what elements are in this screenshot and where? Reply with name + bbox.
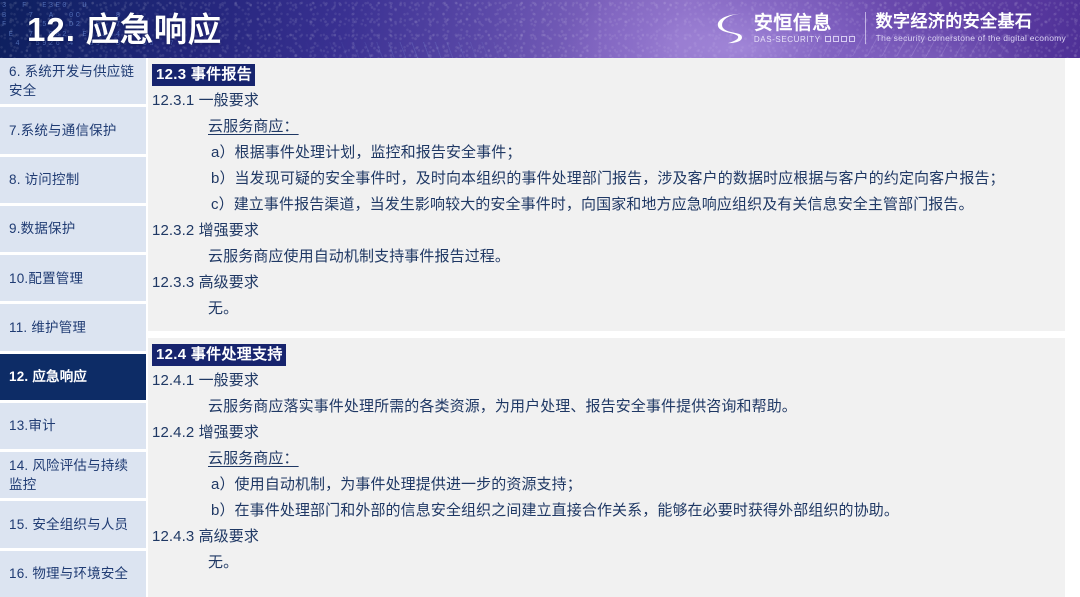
sidebar-item-16[interactable]: 16. 物理与环境安全 <box>0 551 146 597</box>
sidebar-item-12[interactable]: 12. 应急响应 <box>0 354 146 400</box>
sidebar-item-9[interactable]: 9.数据保护 <box>0 206 146 252</box>
content-line: 无。 <box>148 550 1065 576</box>
section-heading-12-4: 12.4 事件处理支持 <box>152 344 286 366</box>
content-line: a）使用自动机制，为事件处理提供进一步的资源支持； <box>148 472 1065 498</box>
slide-header: 3 F E3E0 U B 7 A 0C 1 8 F 5 D2 9 7F E 7 … <box>0 0 1080 58</box>
sidebar-item-label: 12. 应急响应 <box>9 367 87 386</box>
section-12-3-body: 12.3.1 一般要求云服务商应：a）根据事件处理计划，监控和报告安全事件；b）… <box>148 88 1065 322</box>
content-line: 12.4.1 一般要求 <box>148 368 1065 394</box>
content-line: 云服务商应落实事件处理所需的各类资源，为用户处理、报告安全事件提供咨询和帮助。 <box>148 394 1065 420</box>
sidebar-item-label: 9.数据保护 <box>9 219 75 238</box>
content-panel-12-3: 12.3 事件报告 12.3.1 一般要求云服务商应：a）根据事件处理计划，监控… <box>148 58 1065 331</box>
sidebar-item-label: 16. 物理与环境安全 <box>9 564 128 583</box>
sidebar-item-label: 8. 访问控制 <box>9 170 79 189</box>
sidebar-item-label: 6. 系统开发与供应链安全 <box>9 62 137 100</box>
content-line: a）根据事件处理计划，监控和报告安全事件； <box>148 140 1065 166</box>
sidebar-item-8[interactable]: 8. 访问控制 <box>0 157 146 203</box>
sidebar-item-label: 11. 维护管理 <box>9 318 86 337</box>
badge-icon-4 <box>849 36 855 42</box>
slogan-block: 数字经济的安全基石 The security cornerstone of th… <box>876 9 1066 47</box>
brand-name-cn: 安恒信息 <box>754 13 855 34</box>
sidebar-item-14[interactable]: 14. 风险评估与持续监控 <box>0 452 146 498</box>
das-security-swirl-icon <box>716 10 749 46</box>
slogan-en: The security cornerstone of the digital … <box>876 33 1066 44</box>
section-sidebar: 6. 系统开发与供应链安全7.系统与通信保护8. 访问控制9.数据保护10.配置… <box>0 58 146 597</box>
content-line: 12.4.3 高级要求 <box>148 524 1065 550</box>
logo-divider <box>865 12 866 44</box>
sidebar-item-6[interactable]: 6. 系统开发与供应链安全 <box>0 58 146 104</box>
content-line: 12.3.3 高级要求 <box>148 270 1065 296</box>
content-panel-12-4: 12.4 事件处理支持 12.4.1 一般要求云服务商应落实事件处理所需的各类资… <box>148 338 1065 597</box>
sidebar-item-13[interactable]: 13.审计 <box>0 403 146 449</box>
content-line: 无。 <box>148 296 1065 322</box>
sidebar-item-label: 14. 风险评估与持续监控 <box>9 456 137 494</box>
content-line: b）在事件处理部门和外部的信息安全组织之间建立直接合作关系，能够在必要时获得外部… <box>148 498 1065 524</box>
badge-icon-3 <box>841 36 847 42</box>
brand-name-en: DAS-SECURITY <box>754 35 821 44</box>
badge-icon-2 <box>833 36 839 42</box>
sidebar-item-11[interactable]: 11. 维护管理 <box>0 304 146 350</box>
content-line: 云服务商应： <box>148 446 1065 472</box>
brand-text-block: 安恒信息 DAS-SECURITY <box>754 9 855 47</box>
section-12-4-body: 12.4.1 一般要求云服务商应落实事件处理所需的各类资源，为用户处理、报告安全… <box>148 368 1065 576</box>
company-logo: 安恒信息 DAS-SECURITY 数字经济的安全基石 The security… <box>716 6 1066 50</box>
content-line: b）当发现可疑的安全事件时，及时向本组织的事件处理部门报告，涉及客户的数据时应根… <box>148 166 1065 192</box>
slogan-cn: 数字经济的安全基石 <box>876 12 1066 31</box>
sidebar-item-label: 13.审计 <box>9 416 56 435</box>
brand-en-row: DAS-SECURITY <box>754 35 855 44</box>
certification-badges-icon <box>825 36 855 42</box>
page-title: 12. 应急响应 <box>27 3 222 51</box>
badge-icon-1 <box>825 36 831 42</box>
sidebar-item-10[interactable]: 10.配置管理 <box>0 255 146 301</box>
content-line: 云服务商应： <box>148 114 1065 140</box>
header-light-streak-left <box>300 42 540 58</box>
slide-body: 6. 系统开发与供应链安全7.系统与通信保护8. 访问控制9.数据保护10.配置… <box>0 58 1080 597</box>
content-line: 12.3.1 一般要求 <box>148 88 1065 114</box>
content-line: 云服务商应使用自动机制支持事件报告过程。 <box>148 244 1065 270</box>
sidebar-item-7[interactable]: 7.系统与通信保护 <box>0 107 146 153</box>
content-area: 12.3 事件报告 12.3.1 一般要求云服务商应：a）根据事件处理计划，监控… <box>148 58 1065 597</box>
sidebar-item-label: 10.配置管理 <box>9 269 83 288</box>
content-line: c）建立事件报告渠道，当发生影响较大的安全事件时，向国家和地方应急响应组织及有关… <box>148 192 1065 218</box>
sidebar-item-15[interactable]: 15. 安全组织与人员 <box>0 501 146 547</box>
content-line: 12.3.2 增强要求 <box>148 218 1065 244</box>
section-heading-12-3: 12.3 事件报告 <box>152 64 255 86</box>
sidebar-item-label: 15. 安全组织与人员 <box>9 515 128 534</box>
content-line: 12.4.2 增强要求 <box>148 420 1065 446</box>
sidebar-item-label: 7.系统与通信保护 <box>9 121 117 140</box>
